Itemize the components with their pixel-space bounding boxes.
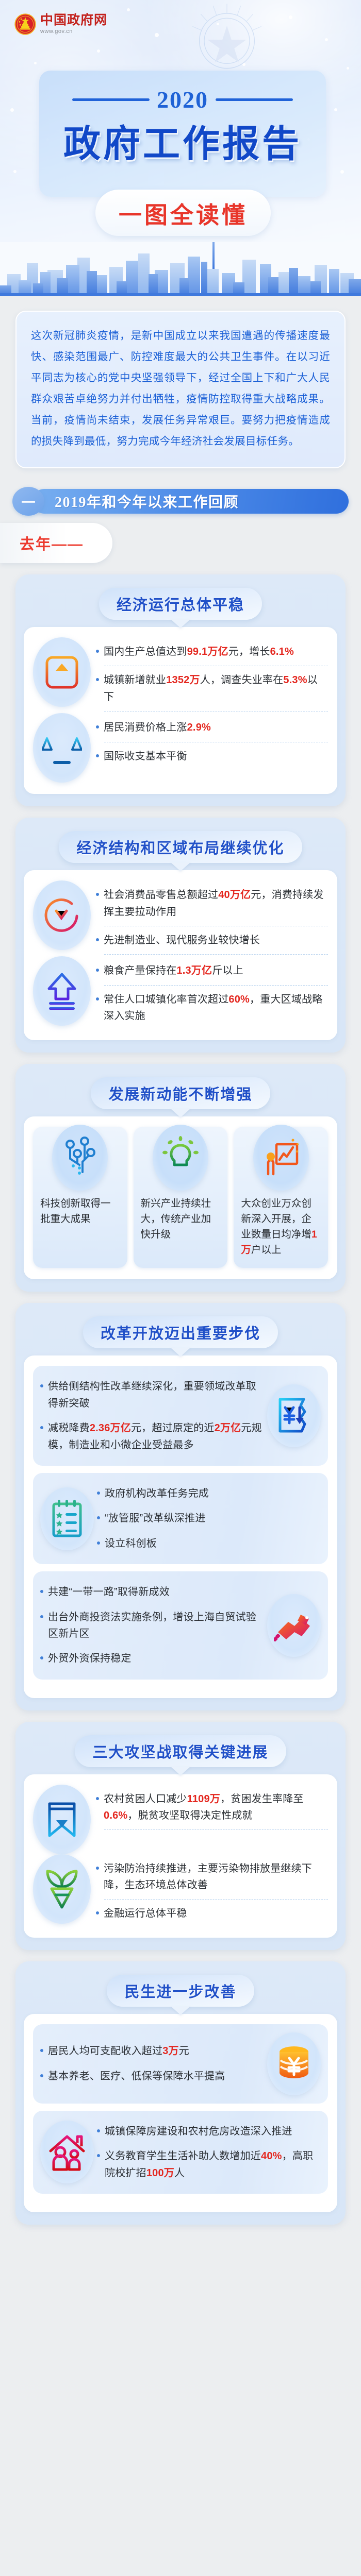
bullet-text: 减税降费2.36万亿元，超过原定的近2万亿元规模，制造业和小微企业受益最多 (48, 1420, 264, 1453)
bullet-text: 居民消费价格上涨2.9% (104, 719, 328, 736)
bullet-text: 金融运行总体平稳 (104, 1905, 328, 1922)
bullet-text-run: 基本养老、医疗、低保等保障水平提高 (48, 2071, 225, 2082)
yuan-plus-circle-icon-container (33, 880, 91, 950)
bullet-text-run: 国际收支基本平衡 (104, 751, 187, 762)
page-title: 政府工作报告 (39, 113, 326, 167)
up-arrow-box-icon-container (33, 637, 91, 707)
icon-bullet-row: 社会消费品零售总额超过40万亿元，消费持续发挥主要拉动作用 先进制造业、现代服务… (33, 880, 328, 956)
bullet-item: 农村贫困人口减少1109万，贫困发生率降至0.6%，脱贫攻坚取得决定性成就 (96, 1787, 328, 1828)
icon-bullet-row: 污染防治持续推进，主要污染物排放量继续下降，生态环境总体改善 金融运行总体平稳 (33, 1854, 328, 1926)
highlight-value: 40万亿 (218, 889, 251, 901)
title-card: 2020 政府工作报告 (39, 71, 326, 197)
logo-url: www.gov.cn (40, 29, 107, 35)
bullet-item: 政府机构改革任务完成 (97, 1481, 321, 1506)
snow-dot (334, 108, 337, 111)
handshake-icon (274, 1605, 314, 1646)
highlight-block: 共建“一带一路”取得新成效 出台外商投资法实施条例，增设上海自贸试验区新片区 外… (33, 1571, 328, 1680)
card-title: 发展新动能不断增强 (108, 1082, 252, 1104)
bullet-divider (104, 742, 328, 742)
bullet-text: “放管服”改革纵深推进 (105, 1510, 321, 1527)
site-logo[interactable]: 中国政府网 www.gov.cn (14, 13, 107, 35)
handshake-icon-container (267, 1594, 321, 1657)
card-notch-icon (171, 2006, 190, 2015)
card-title-pill: 三大攻坚战取得关键进展 (75, 1735, 286, 1767)
bullet-dot-icon (40, 1426, 43, 1429)
content-card: 经济运行总体平稳 国内生产总值达到99.1万亿元，增长6.1% 城镇新增就业13… (15, 574, 346, 806)
bullet-dot-icon (97, 1516, 100, 1519)
up-arrow-lines-icon (43, 971, 81, 1011)
bullet-divider (104, 711, 328, 711)
bullet-list: 政府机构改革任务完成 “放管服”改革纵深推进 设立科创板 (97, 1481, 321, 1556)
bullet-text-run: 常住人口城镇化率首次超过 (104, 994, 228, 1005)
bullet-text-run: 居民人均可支配收入超过 (48, 2045, 162, 2057)
tax-cut-doc-icon-container (267, 1384, 321, 1447)
bullet-item: 金融运行总体平稳 (96, 1901, 328, 1926)
highlight-value: 2.36万亿 (90, 1422, 131, 1434)
bullet-text: 国内生产总值达到99.1万亿元，增长6.1% (104, 643, 328, 660)
hero-banner: 中国政府网 www.gov.cn 2020 政府工作报告 一图全读懂 (0, 0, 361, 242)
card-body: 供给侧结构性改革继续深化，重要领域改革取得新突破 减税降费2.36万亿元，超过原… (24, 1355, 337, 1698)
balance-scale-icon (42, 728, 82, 768)
card-title-pill: 发展新动能不断增强 (91, 1077, 270, 1109)
content-card: 经济结构和区域布局继续优化 社会消费品零售总额超过40万亿元，消费持续发挥主要拉… (15, 818, 346, 1052)
snow-dot (13, 170, 17, 173)
intro-paragraph: 这次新冠肺炎疫情，是新中国成立以来我国遭遇的传播速度最快、感染范围最广、防控难度… (31, 325, 330, 452)
bullet-item: 社会消费品零售总额超过40万亿元，消费持续发挥主要拉动作用 (96, 883, 328, 924)
bullet-text-run: 元 (179, 2045, 189, 2057)
bullet-dot-icon (96, 754, 99, 757)
page-subtitle: 一图全读懂 (119, 196, 248, 230)
icon-bullet-row: 农村贫困人口减少1109万，贫困发生率降至0.6%，脱贫攻坚取得决定性成就 (33, 1785, 328, 1854)
bullet-item: 粮食产量保持在1.3万亿斤以上 (96, 958, 328, 983)
bullet-text-run: “放管服”改革纵深推进 (105, 1513, 206, 1524)
highlight-value: 3万 (162, 2045, 179, 2057)
bullet-list: 共建“一带一路”取得新成效 出台外商投资法实施条例，增设上海自贸试验区新片区 外… (40, 1580, 264, 1671)
up-arrow-lines-icon-container (33, 956, 91, 1026)
highlight-block: 供给侧结构性改革继续深化，重要领域改革取得新突破 减税降费2.36万亿元，超过原… (33, 1366, 328, 1466)
bullet-list: 居民人均可支配收入超过3万元 基本养老、医疗、低保等保障水平提高 (40, 2039, 264, 2089)
bullet-text-run: 元，增长 (228, 646, 270, 657)
bullet-text-run: 金融运行总体平稳 (104, 1908, 187, 1919)
bullet-item: 居民人均可支配收入超过3万元 (40, 2039, 264, 2063)
card-body: 国内生产总值达到99.1万亿元，增长6.1% 城镇新增就业1352万人，调查失业… (24, 627, 337, 794)
bullet-item: 减税降费2.36万亿元，超过原定的近2万亿元规模，制造业和小微企业受益最多 (40, 1416, 264, 1458)
bullet-text-run: 城镇保障房建设和农村危房改造深入推进 (105, 2126, 292, 2137)
content-card: 改革开放迈出重要步伐 供给侧结构性改革继续深化，重要领域改革取得新突破 减税降 (15, 1303, 346, 1710)
green-leaf-icon (43, 1868, 80, 1909)
bullet-divider (104, 1829, 328, 1830)
bullet-text-run: ，贫困发生率降至 (220, 1793, 304, 1805)
content-card: 发展新动能不断增强 科技创新取得一批重大成果 (15, 1064, 346, 1292)
bullet-item: 城镇保障房建设和农村危房改造深入推进 (97, 2119, 321, 2144)
intro-card: 这次新冠肺炎疫情，是新中国成立以来我国遭遇的传播速度最快、感染范围最广、防控难度… (15, 311, 346, 468)
bullet-text: 政府机构改革任务完成 (105, 1485, 321, 1502)
bullet-list: 污染防治持续推进，主要污染物排放量继续下降，生态环境总体改善 金融运行总体平稳 (96, 1854, 328, 1926)
bullet-dot-icon (97, 1492, 100, 1495)
green-leaf-icon-container (33, 1854, 91, 1924)
bullet-text-run: 粮食产量保持在 (104, 965, 176, 976)
bullet-text: 常住人口城镇化率首次超过60%，重大区域战略深入实施 (104, 991, 328, 1025)
bullet-text-run: 农村贫困人口减少 (104, 1793, 187, 1805)
bullet-dot-icon (40, 2074, 43, 2077)
bullet-text-run: 供给侧结构性改革继续深化，重要领域改革取得新突破 (48, 1381, 256, 1409)
bullet-text-run: 城镇新增就业 (104, 674, 166, 686)
card-title: 改革开放迈出重要步伐 (101, 1321, 260, 1343)
bullet-item: 先进制造业、现代服务业较快增长 (96, 928, 328, 953)
checklist-icon-container (40, 1487, 94, 1550)
bullet-text: 义务教育学生生活补助人数增加近40%，高职院校扩招100万人 (105, 2148, 321, 2181)
highlight-block: 城镇保障房建设和农村危房改造深入推进 义务教育学生生活补助人数增加近40%，高职… (33, 2111, 328, 2194)
card-title-pill: 民生进一步改善 (107, 1975, 254, 2007)
bullet-list: 供给侧结构性改革继续深化，重要领域改革取得新突破 减税降费2.36万亿元，超过原… (40, 1374, 264, 1458)
card-notch-icon (171, 862, 190, 871)
bullet-dot-icon (97, 2129, 100, 2132)
bullet-item: 污染防治持续推进，主要污染物排放量继续下降，生态环境总体改善 (96, 1856, 328, 1898)
bullet-item: 设立科创板 (97, 1531, 321, 1556)
rule-right (216, 98, 293, 101)
bullet-divider (104, 926, 328, 926)
person-chart-icon-container (253, 1125, 309, 1191)
highlight-value: 99.1万亿 (187, 646, 228, 657)
house-family-icon (47, 2131, 87, 2173)
bullet-text-run: 大众创业万众创新深入开展，企业数量日均净增 (241, 1198, 311, 1240)
icon-bullet-row: 粮食产量保持在1.3万亿斤以上 常住人口城镇化率首次超过60%，重大区域战略深入… (33, 956, 328, 1028)
bookmark-down-icon (43, 1799, 80, 1840)
highlight-value: 60% (228, 994, 250, 1005)
balance-scale-icon-container (33, 713, 91, 783)
snow-dot (347, 67, 349, 70)
bullet-dot-icon (96, 938, 99, 941)
bullet-item: 义务教育学生生活补助人数增加近40%，高职院校扩招100万人 (97, 2144, 321, 2185)
bullet-item: 国内生产总值达到99.1万亿元，增长6.1% (96, 639, 328, 664)
highlight-block: 居民人均可支配收入超过3万元 基本养老、医疗、低保等保障水平提高 (33, 2024, 328, 2104)
card-title: 三大攻坚战取得关键进展 (92, 1740, 268, 1762)
bullet-dot-icon (96, 893, 99, 896)
bullet-dot-icon (97, 1541, 100, 1545)
highlight-value: 0.6% (104, 1810, 127, 1821)
bullet-text-run: 人，调查失业率在 (200, 674, 284, 686)
bullet-divider (104, 954, 328, 955)
highlight-block: 政府机构改革任务完成 “放管服”改革纵深推进 设立科创板 (33, 1473, 328, 1564)
bullet-text-run: 科技创新取得一批重大成果 (40, 1198, 111, 1225)
person-chart-icon (262, 1136, 300, 1179)
infographic-page: 中国政府网 www.gov.cn 2020 政府工作报告 一图全读懂 (0, 0, 361, 2240)
bullet-text-run: 国内生产总值达到 (104, 646, 187, 657)
card-notch-icon (171, 1109, 190, 1117)
bullet-text-run: 外贸外资保持稳定 (48, 1653, 132, 1664)
bullet-dot-icon (96, 1797, 99, 1800)
tile-text: 科技创新取得一批重大成果 (38, 1196, 122, 1227)
bullet-dot-icon (96, 678, 99, 681)
cards-container: 经济运行总体平稳 国内生产总值达到99.1万亿元，增长6.1% 城镇新增就业13… (0, 574, 361, 2225)
bullet-text-run: 斤以上 (212, 965, 243, 976)
content-card: 民生进一步改善 居民人均可支配收入超过3万元 基本养老、医疗、低保等保障水平提 (15, 1961, 346, 2225)
card-notch-icon (171, 619, 190, 628)
snow-dot (155, 33, 159, 37)
bullet-text: 供给侧结构性改革继续深化，重要领域改革取得新突破 (48, 1378, 264, 1412)
bullet-item: 供给侧结构性改革继续深化，重要领域改革取得新突破 (40, 1374, 264, 1416)
bullet-text-run: 出台外商投资法实施条例，增设上海自贸试验区新片区 (48, 1612, 256, 1639)
circuit-node-icon-container (52, 1125, 108, 1191)
section-header: 2019年和今年以来工作回顾 一 (0, 485, 361, 517)
card-title-pill: 经济结构和区域布局继续优化 (59, 831, 302, 863)
bullet-item: 出台外商投资法实施条例，增设上海自贸试验区新片区 (40, 1605, 264, 1647)
icon-bullet-row: 政府机构改革任务完成 “放管服”改革纵深推进 设立科创板 (40, 1481, 321, 1556)
page-tail-spacer (0, 2225, 361, 2240)
bullet-item: “放管服”改革纵深推进 (97, 1506, 321, 1531)
highlight-value: 1352万 (166, 674, 200, 686)
snow-dot (10, 108, 14, 112)
bullet-item: 常住人口城镇化率首次超过60%，重大区域战略深入实施 (96, 987, 328, 1029)
bullet-item: 共建“一带一路”取得新成效 (40, 1580, 264, 1604)
highlight-value: 1.3万亿 (176, 965, 212, 976)
rule-left (72, 98, 150, 101)
tile-text: 新兴产业持续壮大，传统产业加快升级 (139, 1196, 223, 1243)
bullet-text: 污染防治持续推进，主要污染物排放量继续下降，生态环境总体改善 (104, 1860, 328, 1894)
highlight-value: 1109万 (187, 1793, 220, 1805)
bullet-dot-icon (96, 997, 99, 1001)
bullet-text-run: 设立科创板 (105, 1538, 157, 1549)
card-notch-icon (171, 1348, 190, 1357)
icon-bullet-row: 共建“一带一路”取得新成效 出台外商投资法实施条例，增设上海自贸试验区新片区 外… (40, 1580, 321, 1671)
card-body: 居民人均可支配收入超过3万元 基本养老、医疗、低保等保障水平提高 城镇保障房建设… (24, 2014, 337, 2212)
bullet-text-run: 减税降费 (48, 1422, 90, 1434)
bullet-list: 社会消费品零售总额超过40万亿元，消费持续发挥主要拉动作用 先进制造业、现代服务… (96, 880, 328, 956)
bullet-list: 粮食产量保持在1.3万亿斤以上 常住人口城镇化率首次超过60%，重大区域战略深入… (96, 956, 328, 1028)
sub-tag-last-year: 去年—— (0, 523, 112, 563)
tile-text: 大众创业万众创新深入开展，企业数量日均净增1万户以上 (239, 1196, 323, 1258)
icon-bullet-row: 居民人均可支配收入超过3万元 基本养老、医疗、低保等保障水平提高 (40, 2032, 321, 2095)
bullet-dot-icon (96, 650, 99, 653)
bullet-text: 基本养老、医疗、低保等保障水平提高 (48, 2068, 264, 2084)
highlight-value: 2万亿 (215, 1422, 241, 1434)
feature-tile: 科技创新取得一批重大成果 (33, 1127, 127, 1268)
section-title: 2019年和今年以来工作回顾 (55, 491, 239, 512)
bullet-dot-icon (40, 1590, 43, 1593)
house-family-icon-container (40, 2121, 94, 2183)
bullet-text-run: 新兴产业持续壮大，传统产业加快升级 (141, 1198, 211, 1240)
coin-stack-icon (274, 2044, 314, 2084)
bullet-text-run: ，脱贫攻坚取得决定性成就 (127, 1810, 252, 1821)
feature-tile: 新兴产业持续壮大，传统产业加快升级 (134, 1127, 228, 1268)
bullet-text-run: 户以上 (251, 1244, 282, 1256)
lightbulb-icon (162, 1136, 199, 1179)
snow-dot (325, 38, 328, 41)
highlight-value: 2.9% (187, 722, 211, 733)
snow-dot (97, 49, 100, 53)
card-title-pill: 经济运行总体平稳 (99, 588, 262, 620)
bullet-item: 居民消费价格上涨2.9% (96, 715, 328, 740)
bullet-text: 城镇保障房建设和农村危房改造深入推进 (105, 2123, 321, 2140)
bullet-item: 外贸外资保持稳定 (40, 1646, 264, 1671)
bullet-divider (104, 666, 328, 666)
section-number: 一 (22, 492, 36, 512)
yuan-plus-circle-icon (42, 895, 82, 936)
feature-tile: 大众创业万众创新深入开展，企业数量日均净增1万户以上 (234, 1127, 328, 1268)
card-title: 经济运行总体平稳 (117, 593, 244, 615)
bullet-dot-icon (40, 1615, 43, 1618)
card-title: 经济结构和区域布局继续优化 (76, 836, 284, 858)
bullet-text: 城镇新增就业1352万人，调查失业率在5.3%以下 (104, 672, 328, 705)
tax-cut-doc-icon (275, 1395, 313, 1436)
card-notch-icon (171, 1767, 190, 1775)
card-body: 社会消费品零售总额超过40万亿元，消费持续发挥主要拉动作用 先进制造业、现代服务… (24, 870, 337, 1040)
bullet-item: 城镇新增就业1352万人，调查失业率在5.3%以下 (96, 668, 328, 709)
year-row: 2020 (39, 86, 326, 113)
icon-bullet-row: 国内生产总值达到99.1万亿元，增长6.1% 城镇新增就业1352万人，调查失业… (33, 637, 328, 713)
bullet-text-run: 污染防治持续推进，主要污染物排放量继续下降，生态环境总体改善 (104, 1863, 312, 1891)
bullet-dot-icon (96, 1911, 99, 1914)
bullet-text: 国际收支基本平衡 (104, 748, 328, 765)
snow-dot (289, 15, 292, 19)
lightbulb-icon-container (153, 1125, 208, 1191)
bullet-text: 社会消费品零售总额超过40万亿元，消费持续发挥主要拉动作用 (104, 887, 328, 920)
bullet-list: 居民消费价格上涨2.9% 国际收支基本平衡 (96, 713, 328, 769)
coin-stack-icon-container (267, 2032, 321, 2095)
bullet-text-run: 先进制造业、现代服务业较快增长 (104, 935, 260, 946)
highlight-value: 100万 (146, 2167, 174, 2179)
card-title: 民生进一步改善 (124, 1980, 236, 2002)
up-arrow-box-icon (43, 653, 81, 691)
bullet-text-run: 政府机构改革任务完成 (105, 1488, 209, 1499)
bullet-dot-icon (96, 969, 99, 972)
logo-title: 中国政府网 (40, 14, 107, 27)
bullet-text-run: 元，超过原定的近 (131, 1422, 215, 1434)
checklist-icon (49, 1498, 85, 1540)
icon-bullet-row: 居民消费价格上涨2.9% 国际收支基本平衡 (33, 713, 328, 783)
skyline-icon (0, 242, 361, 296)
bullet-dot-icon (96, 725, 99, 728)
card-body: 科技创新取得一批重大成果 新兴产业持续壮大，传统产业加快升级 (24, 1116, 337, 1280)
bullet-text-run: 义务教育学生生活补助人数增加近 (105, 2150, 261, 2162)
highlight-value: 6.1% (270, 646, 294, 657)
bullet-dot-icon (40, 2049, 43, 2052)
bullet-dot-icon (96, 1867, 99, 1870)
tile-group: 科技创新取得一批重大成果 新兴产业持续壮大，传统产业加快升级 (33, 1127, 328, 1268)
bullet-text: 先进制造业、现代服务业较快增长 (104, 932, 328, 948)
report-year: 2020 (157, 86, 208, 113)
bullet-list: 农村贫困人口减少1109万，贫困发生率降至0.6%，脱贫攻坚取得决定性成就 (96, 1785, 328, 1832)
highlight-value: 5.3% (283, 674, 307, 686)
bullet-text: 农村贫困人口减少1109万，贫困发生率降至0.6%，脱贫攻坚取得决定性成就 (104, 1791, 328, 1824)
bullet-text-run: 人 (174, 2167, 185, 2179)
bullet-list: 国内生产总值达到99.1万亿元，增长6.1% 城镇新增就业1352万人，调查失业… (96, 637, 328, 713)
bullet-item: 国际收支基本平衡 (96, 744, 328, 769)
bullet-text: 共建“一带一路”取得新成效 (48, 1584, 264, 1600)
bullet-dot-icon (97, 2154, 100, 2157)
section-number-badge: 一 (12, 487, 44, 516)
bullet-text: 出台外商投资法实施条例，增设上海自贸试验区新片区 (48, 1609, 264, 1642)
icon-bullet-row: 城镇保障房建设和农村危房改造深入推进 义务教育学生生活补助人数增加近40%，高职… (40, 2119, 321, 2185)
bullet-text-run: 社会消费品零售总额超过 (104, 889, 218, 901)
bullet-dot-icon (40, 1656, 43, 1659)
bullet-text-run: 居民消费价格上涨 (104, 722, 187, 733)
national-emblem-icon (14, 13, 36, 35)
bookmark-down-icon-container (33, 1785, 91, 1854)
bullet-text-run: 共建“一带一路”取得新成效 (48, 1586, 170, 1598)
section-title-bar: 2019年和今年以来工作回顾 (32, 489, 349, 514)
bullet-item: 基本养老、医疗、低保等保障水平提高 (40, 2064, 264, 2089)
bullet-divider (104, 1899, 328, 1900)
snow-dot (340, 170, 344, 174)
content-card: 三大攻坚战取得关键进展 农村贫困人口减少1109万，贫困发生率降至0.6%，脱贫… (15, 1722, 346, 1950)
city-skyline-decoration (0, 242, 361, 296)
bullet-dot-icon (40, 1384, 43, 1387)
bullet-divider (104, 985, 328, 986)
circuit-node-icon (62, 1136, 98, 1179)
subtitle-pill: 一图全读懂 (95, 190, 271, 236)
snow-dot (34, 62, 37, 64)
highlight-value: 40% (261, 2150, 282, 2162)
bullet-text: 居民人均可支配收入超过3万元 (48, 2043, 264, 2059)
bullet-list: 城镇保障房建设和农村危房改造深入推进 义务教育学生生活补助人数增加近40%，高职… (97, 2119, 321, 2185)
sub-tag-label: 去年—— (20, 532, 84, 554)
card-title-pill: 改革开放迈出重要步伐 (83, 1316, 278, 1348)
card-body: 农村贫困人口减少1109万，贫困发生率降至0.6%，脱贫攻坚取得决定性成就 污染… (24, 1774, 337, 1938)
snow-dot (127, 8, 130, 11)
bullet-text: 设立科创板 (105, 1535, 321, 1552)
bullet-text: 粮食产量保持在1.3万亿斤以上 (104, 962, 328, 979)
bullet-text: 外贸外资保持稳定 (48, 1650, 264, 1667)
icon-bullet-row: 供给侧结构性改革继续深化，重要领域改革取得新突破 减税降费2.36万亿元，超过原… (40, 1374, 321, 1458)
intro-section: 这次新冠肺炎疫情，是新中国成立以来我国遭遇的传播速度最快、感染范围最广、防控难度… (0, 296, 361, 471)
